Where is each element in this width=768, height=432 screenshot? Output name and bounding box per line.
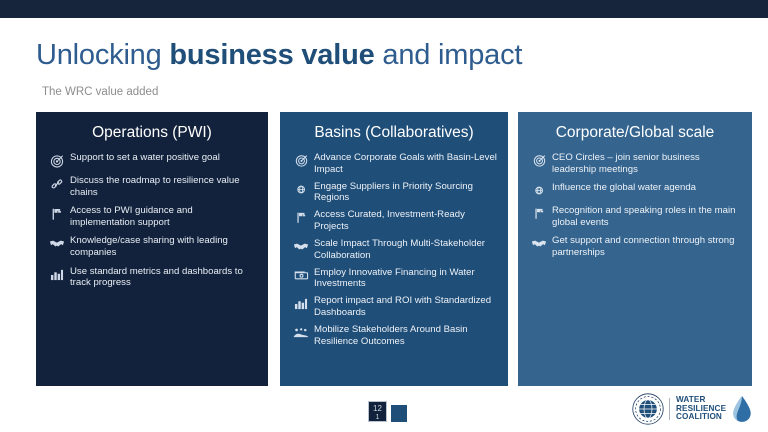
target-icon bbox=[46, 153, 68, 168]
flag-icon bbox=[46, 206, 68, 221]
list-item-label: Scale Impact Through Multi-Stakeholder C… bbox=[312, 238, 498, 261]
target-icon bbox=[290, 153, 312, 168]
water-droplet-icon bbox=[731, 395, 753, 423]
flag-icon bbox=[528, 206, 550, 221]
list-item: Report impact and ROI with Standardized … bbox=[290, 295, 498, 318]
list-item-label: Knowledge/case sharing with leading comp… bbox=[68, 235, 258, 258]
list-item-label: Recognition and speaking roles in the ma… bbox=[550, 205, 742, 228]
globe-icon bbox=[290, 182, 312, 197]
list-item-label: Use standard metrics and dashboards to t… bbox=[68, 266, 258, 289]
list-item-label: Access to PWI guidance and implementatio… bbox=[68, 205, 258, 228]
list-item-label: Influence the global water agenda bbox=[550, 182, 696, 194]
page-number-box: 12 1 bbox=[368, 401, 387, 422]
wordmark-line-3: COALITION bbox=[676, 413, 726, 422]
list-item-label: Advance Corporate Goals with Basin-Level… bbox=[312, 152, 498, 175]
card-corporate-global-list: CEO Circles – join senior business leade… bbox=[528, 152, 742, 259]
list-item: Access Curated, Investment-Ready Project… bbox=[290, 209, 498, 232]
chain-link-icon bbox=[46, 176, 68, 191]
page-number-marker: 12 1 bbox=[368, 401, 412, 425]
card-basins-title: Basins (Collaboratives) bbox=[290, 123, 498, 143]
top-accent-bar bbox=[0, 0, 768, 18]
list-item: Access to PWI guidance and implementatio… bbox=[46, 205, 258, 228]
handshake-icon bbox=[528, 236, 550, 251]
list-item-label: Mobilize Stakeholders Around Basin Resil… bbox=[312, 324, 498, 347]
list-item: Engage Suppliers in Priority Sourcing Re… bbox=[290, 181, 498, 204]
bar-chart-icon bbox=[290, 296, 312, 311]
list-item: Support to set a water positive goal bbox=[46, 152, 258, 168]
list-item: Influence the global water agenda bbox=[528, 182, 742, 198]
list-item-label: CEO Circles – join senior business leade… bbox=[550, 152, 742, 175]
list-item: Employ Innovative Financing in Water Inv… bbox=[290, 267, 498, 290]
list-item-label: Employ Innovative Financing in Water Inv… bbox=[312, 267, 498, 290]
target-icon bbox=[528, 153, 550, 168]
card-operations: Operations (PWI) Support to set a water … bbox=[36, 112, 268, 386]
water-resilience-coalition-wordmark: WATER RESILIENCE COALITION bbox=[676, 396, 726, 422]
list-item: Use standard metrics and dashboards to t… bbox=[46, 266, 258, 289]
slide-canvas: Unlocking business value and impact The … bbox=[0, 0, 768, 432]
logo-divider bbox=[669, 398, 670, 420]
title-emphasis: business value bbox=[169, 39, 374, 71]
card-corporate-global: Corporate/Global scale CEO Circles – joi… bbox=[518, 112, 752, 386]
page-number-accent-square bbox=[391, 405, 407, 422]
list-item: CEO Circles – join senior business leade… bbox=[528, 152, 742, 175]
title-part-1: Unlocking bbox=[36, 39, 169, 71]
page-number-bottom: 1 bbox=[369, 413, 386, 422]
list-item-label: Discuss the roadmap to resilience value … bbox=[68, 175, 258, 198]
list-item-label: Get support and connection through stron… bbox=[550, 235, 742, 258]
list-item: Discuss the roadmap to resilience value … bbox=[46, 175, 258, 198]
card-basins-list: Advance Corporate Goals with Basin-Level… bbox=[290, 152, 498, 347]
card-basins: Basins (Collaboratives) Advance Corporat… bbox=[280, 112, 508, 386]
list-item-label: Report impact and ROI with Standardized … bbox=[312, 295, 498, 318]
page-number-top: 12 bbox=[369, 404, 386, 413]
title-part-2: and impact bbox=[375, 39, 523, 71]
page-title: Unlocking business value and impact bbox=[36, 38, 522, 72]
handshake-icon bbox=[46, 236, 68, 251]
list-item: Scale Impact Through Multi-Stakeholder C… bbox=[290, 238, 498, 261]
card-operations-list: Support to set a water positive goal Dis… bbox=[46, 152, 258, 289]
bar-chart-icon bbox=[46, 267, 68, 282]
footer-logos: WATER RESILIENCE COALITION bbox=[632, 392, 753, 426]
card-corporate-global-title: Corporate/Global scale bbox=[528, 123, 742, 143]
list-item: Mobilize Stakeholders Around Basin Resil… bbox=[290, 324, 498, 347]
list-item: Recognition and speaking roles in the ma… bbox=[528, 205, 742, 228]
bank-money-icon bbox=[290, 268, 312, 283]
globe-icon bbox=[528, 183, 550, 198]
list-item-label: Support to set a water positive goal bbox=[68, 152, 220, 164]
page-subtitle: The WRC value added bbox=[42, 86, 158, 98]
people-group-icon bbox=[290, 325, 312, 340]
list-item-label: Access Curated, Investment-Ready Project… bbox=[312, 209, 498, 232]
list-item-label: Engage Suppliers in Priority Sourcing Re… bbox=[312, 181, 498, 204]
list-item: Knowledge/case sharing with leading comp… bbox=[46, 235, 258, 258]
list-item: Advance Corporate Goals with Basin-Level… bbox=[290, 152, 498, 175]
handshake-icon bbox=[290, 239, 312, 254]
list-item: Get support and connection through stron… bbox=[528, 235, 742, 258]
card-operations-title: Operations (PWI) bbox=[46, 123, 258, 143]
flag-icon bbox=[290, 210, 312, 225]
un-global-compact-logo bbox=[632, 393, 664, 425]
